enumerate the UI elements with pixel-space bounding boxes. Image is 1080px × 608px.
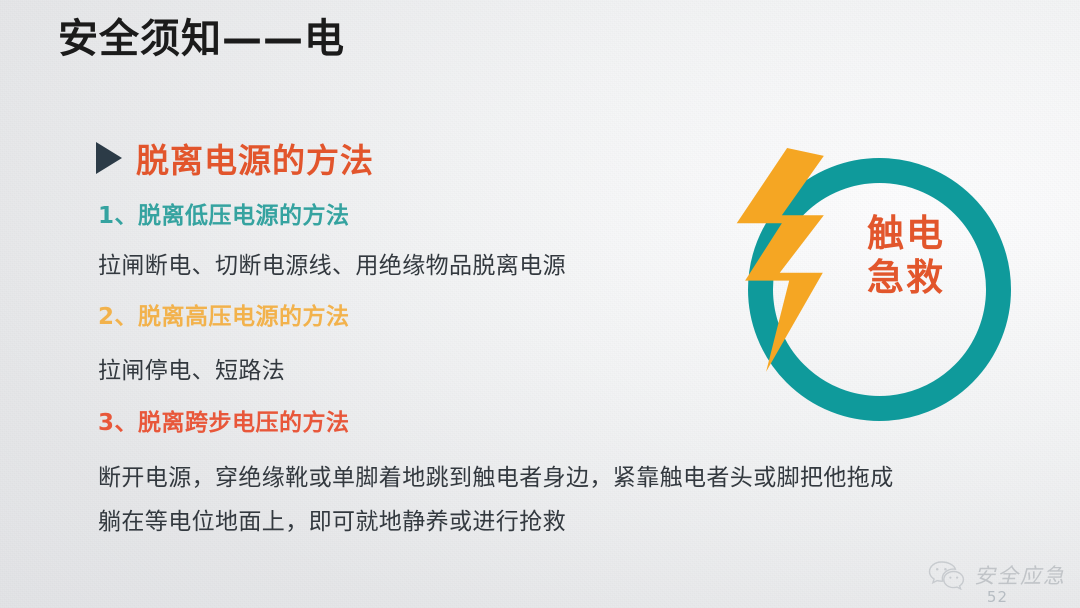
list-item-3-body-line-2: 躺在等电位地面上，即可就地静养或进行抢救 [98, 507, 998, 539]
list-item-3-label: 3、脱离跨步电压的方法 [98, 410, 778, 438]
content-list: 1、脱离低压电源的方法 拉闸断电、切断电源线、用绝缘物品脱离电源 2、脱离高压电… [98, 203, 778, 551]
triangle-right-icon [96, 142, 122, 174]
spacer [98, 282, 778, 304]
footer-watermark: 安全应急 [928, 560, 1066, 590]
wechat-icon [928, 560, 966, 590]
list-item-2-body: 拉闸停电、短路法 [98, 356, 778, 388]
spacer [98, 437, 778, 463]
page-title: 安全须知——电 [58, 16, 345, 62]
watermark-label: 安全应急 [974, 560, 1066, 590]
graphic-label-line-2: 急救 [836, 256, 976, 300]
spacer [98, 332, 778, 356]
slide-canvas: 安全须知——电 脱离电源的方法 1、脱离低压电源的方法 拉闸断电、切断电源线、用… [0, 0, 1080, 608]
page-number: 52 [987, 588, 1008, 606]
list-item-2-label: 2、脱离高压电源的方法 [98, 304, 778, 332]
graphic-label: 触电 急救 [836, 212, 976, 299]
first-aid-graphic: 触电 急救 [716, 146, 1006, 402]
spacer [98, 388, 778, 410]
section-heading-label: 脱离电源的方法 [136, 134, 374, 182]
list-item-1-label: 1、脱离低压电源的方法 [98, 203, 778, 231]
spacer [98, 231, 778, 251]
list-item-3-body-line-1: 断开电源，穿绝缘靴或单脚着地跳到触电者身边，紧靠触电者头或脚把他拖成 [98, 463, 998, 495]
section-heading: 脱离电源的方法 [96, 134, 374, 182]
list-item-1-body: 拉闸断电、切断电源线、用绝缘物品脱离电源 [98, 251, 778, 283]
list-item-3-body: 断开电源，穿绝缘靴或单脚着地跳到触电者身边，紧靠触电者头或脚把他拖成 躺在等电位… [98, 463, 998, 538]
graphic-label-line-1: 触电 [836, 212, 976, 256]
